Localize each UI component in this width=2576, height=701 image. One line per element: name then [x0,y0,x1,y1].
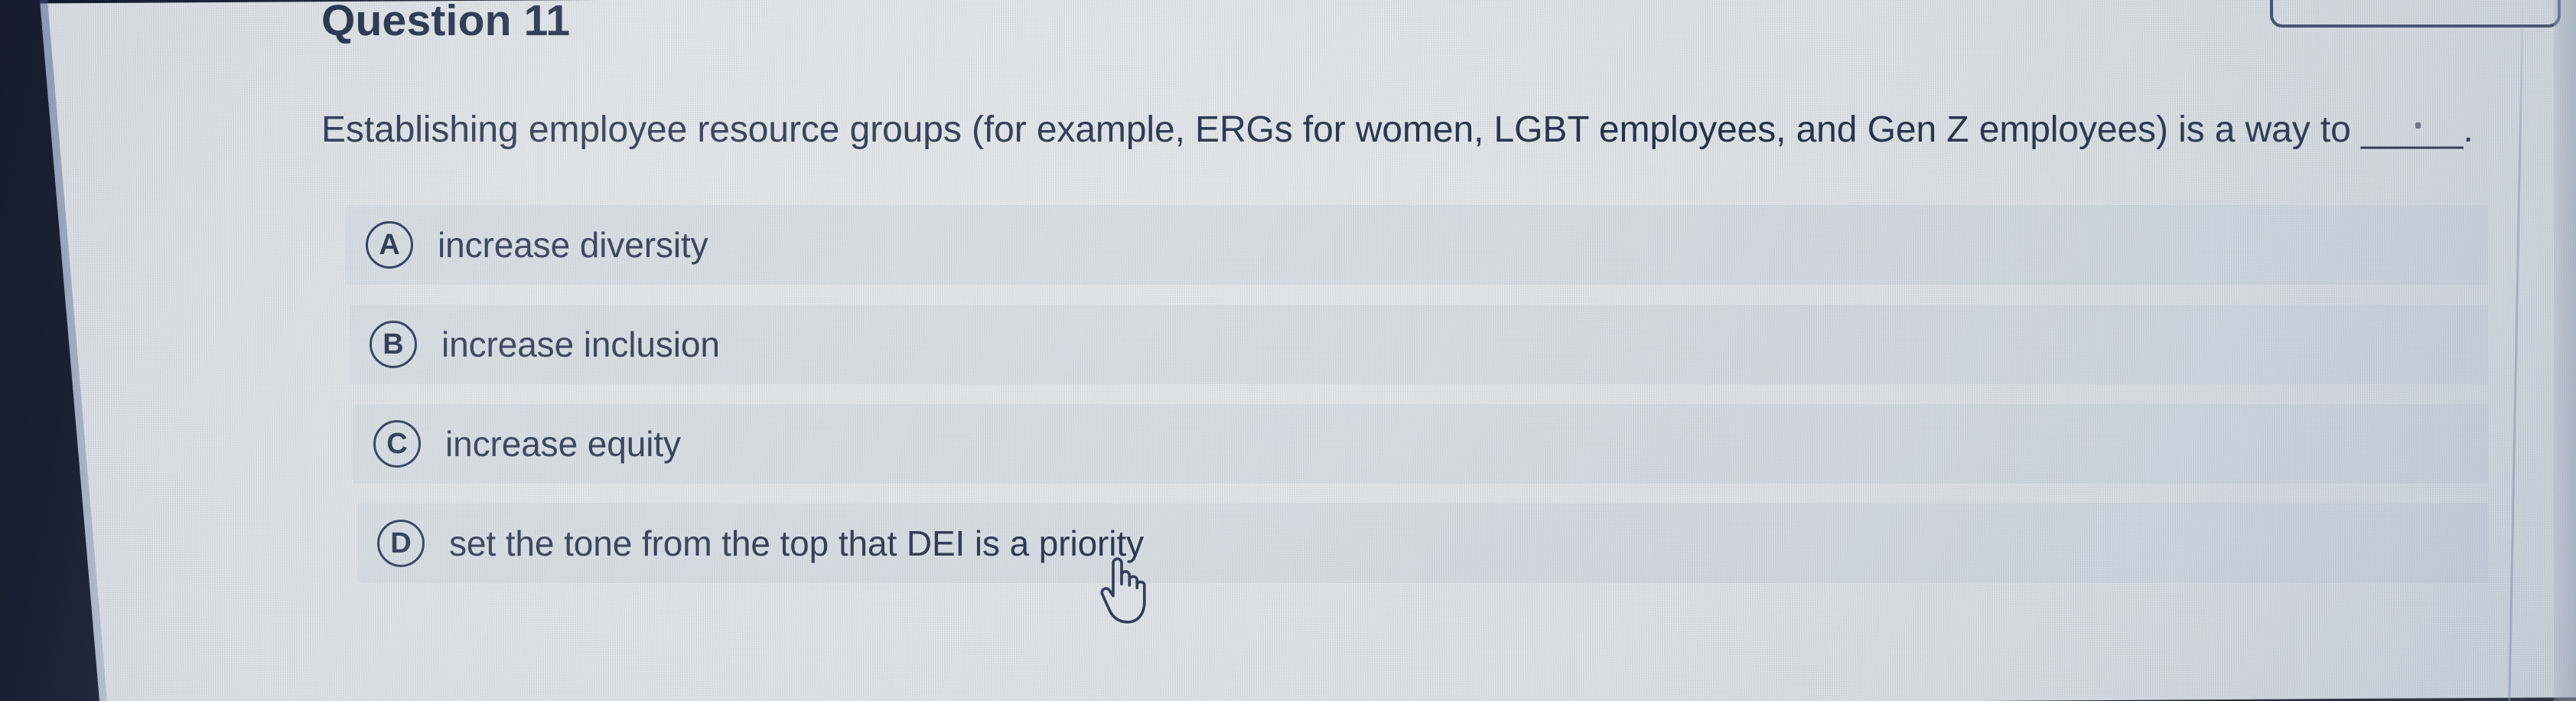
option-row-a[interactable]: A increase diversity [346,205,2488,285]
question-stem-period: . [2463,109,2473,150]
answer-options-list: A increase diversity B increase inclusio… [346,205,2488,603]
option-letter-a: A [366,221,413,269]
partial-top-right-button[interactable] [2270,0,2561,28]
screen-dust-speck [2415,122,2421,129]
option-label-d: set the tone from the top that DEI is a … [449,523,1144,564]
screen-right-margin [2554,0,2576,701]
option-letter-c: C [373,420,421,468]
option-letter-d: D [377,520,425,567]
option-label-b: increase inclusion [441,324,720,365]
question-stem: Establishing employee resource groups (f… [321,109,2473,151]
option-letter-b: B [370,321,417,368]
question-stem-text: Establishing employee resource groups (f… [321,109,2361,150]
screen-photo: Question 11 Establishing employee resour… [0,0,2576,701]
screen-right-edge-line [2508,0,2524,701]
option-row-b[interactable]: B increase inclusion [350,305,2488,384]
option-row-c[interactable]: C increase equity [353,404,2488,484]
option-label-a: increase diversity [438,224,708,266]
quiz-content: Question 11 Establishing employee resour… [0,0,2576,701]
page-title: Question 11 [321,0,570,46]
option-row-d[interactable]: D set the tone from the top that DEI is … [357,504,2488,583]
option-label-c: increase equity [445,423,681,465]
pointing-hand-cursor [1096,553,1149,626]
question-blank: _____ [2361,109,2463,150]
